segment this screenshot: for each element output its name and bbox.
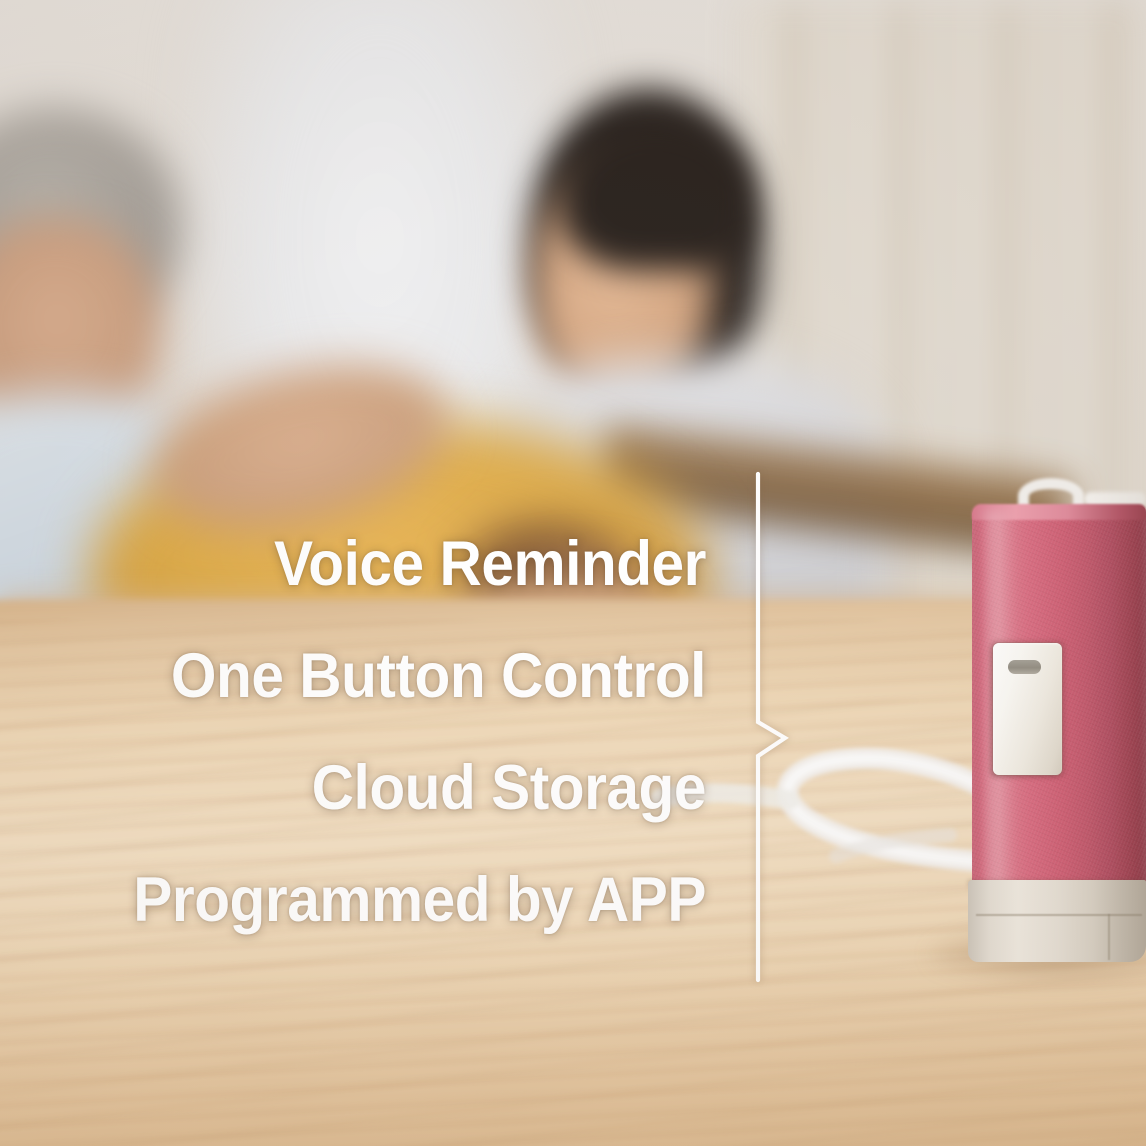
headline-line-1: Voice Reminder — [49, 508, 706, 620]
younger-person-fringe — [560, 120, 750, 270]
power-button[interactable] — [993, 643, 1062, 775]
voice-reminder-device[interactable] — [968, 500, 1146, 960]
headline-line-4: Programmed by APP — [49, 844, 706, 956]
headline-line-2: One Button Control — [49, 620, 706, 732]
device-base — [968, 880, 1146, 962]
banner-stage: Voice Reminder One Button Control Cloud … — [0, 0, 1146, 1146]
device-base-seam — [976, 914, 1142, 916]
device-base-seam-vertical — [1108, 914, 1110, 960]
headline-line-3: Cloud Storage — [49, 732, 706, 844]
headline-copy: Voice Reminder One Button Control Cloud … — [0, 508, 706, 956]
chevron-right-divider-icon — [700, 460, 820, 1000]
status-indicator-icon — [1008, 660, 1041, 674]
